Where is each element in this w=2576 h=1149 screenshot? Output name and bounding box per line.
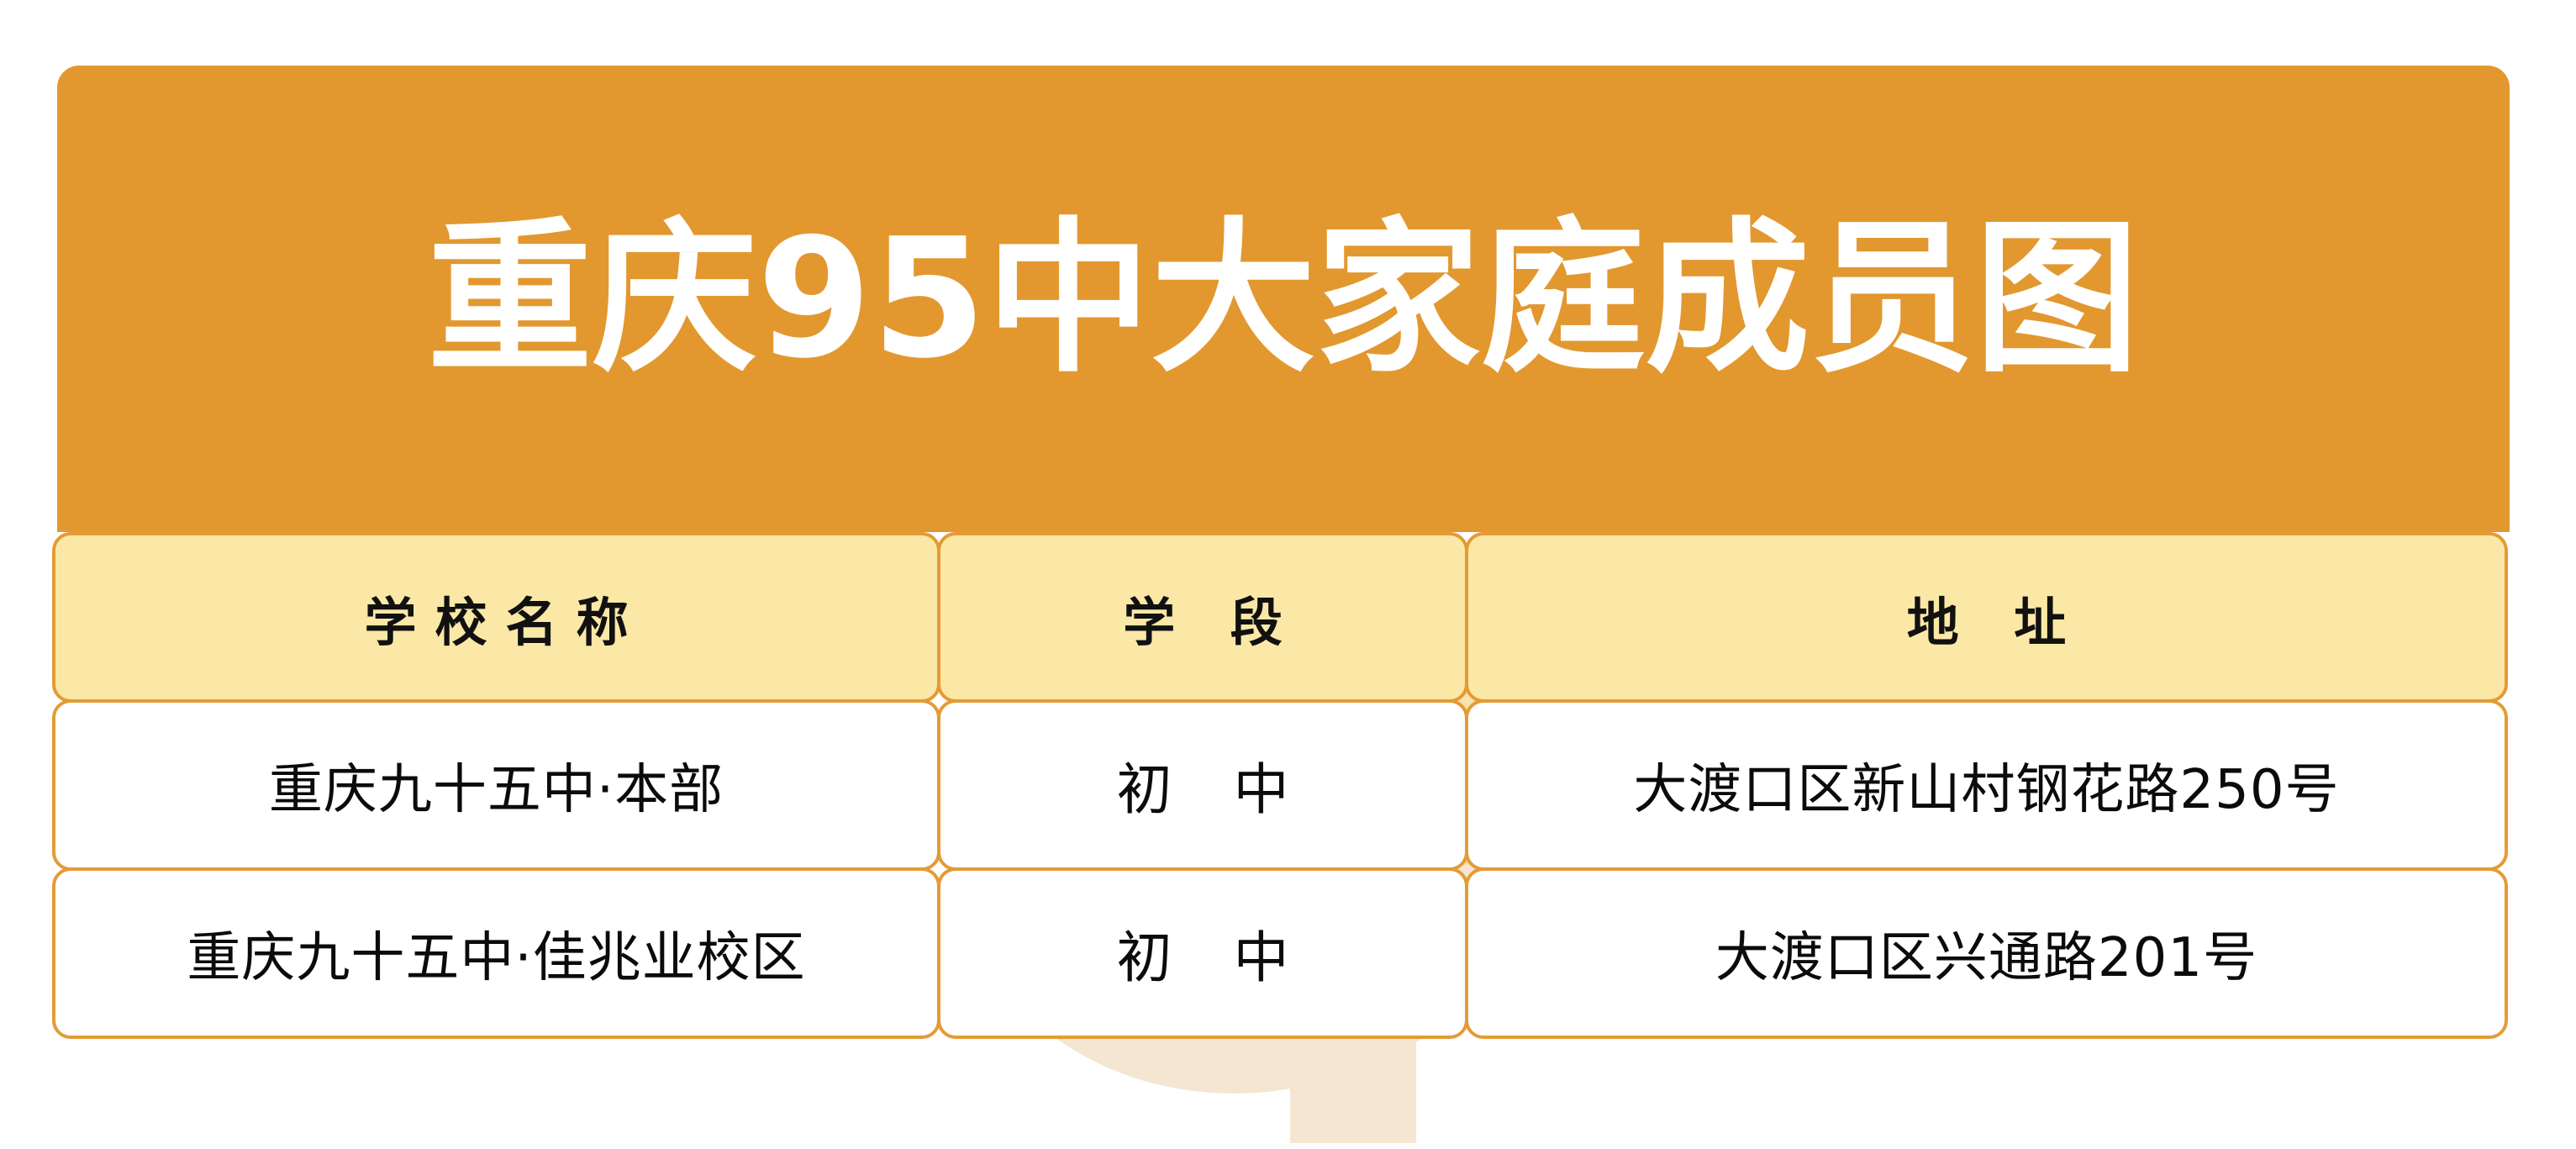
table-row: 重庆九十五中·佳兆业校区 初 中 大渡口区兴通路201号	[52, 867, 2515, 1039]
column-header-school-name-label: 学校名称	[345, 580, 646, 656]
cell-address: 大渡口区新山村钢花路250号	[1465, 699, 2508, 871]
poster-banner: 重庆95中大家庭成员图	[57, 66, 2510, 532]
column-header-address-label: 地 址	[1889, 580, 2085, 656]
schools-table: 学校名称 学 段 地 址 重庆九十五中·本部 初 中 大渡口区新山村钢花路250…	[52, 532, 2515, 1039]
cell-address-text: 大渡口区新山村钢花路250号	[1633, 746, 2339, 824]
cell-stage-text: 初 中	[1095, 745, 1311, 825]
cell-stage-text: 初 中	[1095, 913, 1311, 994]
cell-school-name-text: 重庆九十五中·本部	[269, 746, 724, 824]
poster-title: 重庆95中大家庭成员图	[428, 217, 2140, 382]
poster-root: 重庆95中大家庭成员图 学校名称 学 段 地 址 重庆九十五中·本部 初 中 大…	[0, 0, 2576, 1149]
cell-stage: 初 中	[937, 699, 1468, 871]
table-row: 重庆九十五中·本部 初 中 大渡口区新山村钢花路250号	[52, 699, 2515, 871]
column-header-address: 地 址	[1465, 532, 2508, 703]
cell-school-name: 重庆九十五中·本部	[52, 699, 940, 871]
column-header-stage: 学 段	[937, 532, 1468, 703]
table-header-row: 学校名称 学 段 地 址	[52, 532, 2515, 703]
cell-address-text: 大渡口区兴通路201号	[1715, 914, 2257, 992]
column-header-stage-label: 学 段	[1104, 580, 1301, 656]
cell-address: 大渡口区兴通路201号	[1465, 867, 2508, 1039]
cell-stage: 初 中	[937, 867, 1468, 1039]
cell-school-name-text: 重庆九十五中·佳兆业校区	[187, 914, 805, 992]
column-header-school-name: 学校名称	[52, 532, 940, 703]
cell-school-name: 重庆九十五中·佳兆业校区	[52, 867, 940, 1039]
